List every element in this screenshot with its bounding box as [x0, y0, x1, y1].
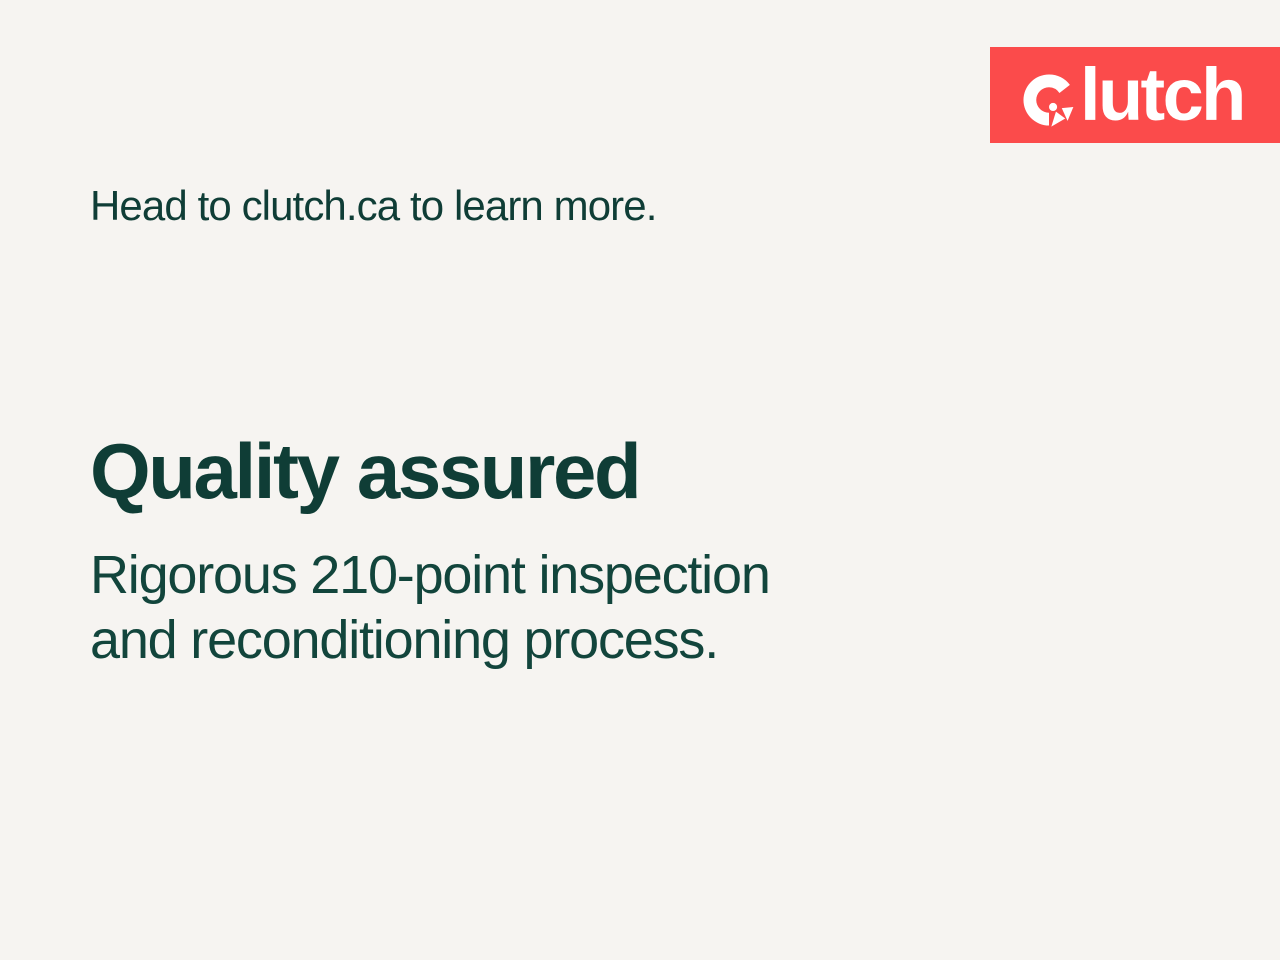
subcopy-line-2: and reconditioning process. — [90, 608, 770, 673]
kicker-text: Head to clutch.ca to learn more. — [90, 182, 657, 229]
subcopy-block: Rigorous 210-point inspection and recond… — [90, 543, 770, 674]
clutch-logo-lockup: lutch — [1020, 58, 1244, 132]
slide-canvas: lutch Head to clutch.ca to learn more. Q… — [0, 0, 1280, 960]
clutch-wordmark-text: lutch — [1080, 58, 1244, 132]
clutch-disc-c-icon — [1020, 71, 1078, 129]
page-title: Quality assured — [90, 431, 639, 513]
subcopy-line-1: Rigorous 210-point inspection — [90, 543, 770, 608]
clutch-logo-banner[interactable]: lutch — [990, 47, 1280, 143]
